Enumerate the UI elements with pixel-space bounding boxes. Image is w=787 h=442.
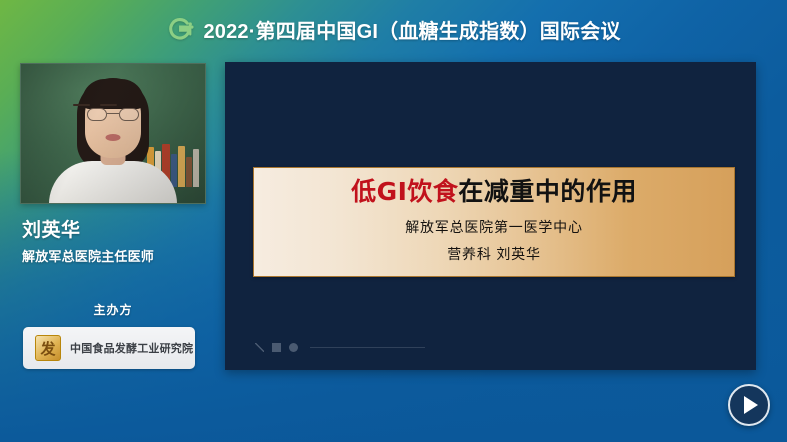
dot-icon[interactable] <box>289 343 298 352</box>
toolbar-divider <box>310 347 425 348</box>
slide-title-rest: 在减重中的作用 <box>458 177 637 206</box>
slide-viewer[interactable]: 低GI饮食在减重中的作用 解放军总医院第一医学中心 营养科 刘英华 <box>225 62 756 370</box>
slide-subtitle-line-1: 解放军总医院第一医学中心 <box>405 217 583 237</box>
organizer-label: 主办方 <box>20 301 206 318</box>
play-button[interactable] <box>728 384 770 426</box>
slide-title-band: 低GI饮食在减重中的作用 解放军总医院第一医学中心 营养科 刘英华 <box>253 167 735 277</box>
slide-title-highlight: 低GI饮食 <box>351 177 458 206</box>
gi-logo-icon <box>166 15 194 43</box>
square-icon[interactable] <box>272 343 281 352</box>
speaker-title: 解放军总医院主任医师 <box>20 246 206 265</box>
speaker-webcam[interactable] <box>20 63 206 204</box>
header-bar: 2022·第四届中国GI（血糖生成指数）国际会议 <box>0 0 787 58</box>
pen-icon[interactable] <box>255 343 264 352</box>
slide-title: 低GI饮食在减重中的作用 <box>351 178 637 207</box>
slide-annotation-toolbar[interactable] <box>255 343 425 352</box>
page-title: 2022·第四届中国GI（血糖生成指数）国际会议 <box>203 15 620 44</box>
slide-subtitle-line-2: 营养科 刘英华 <box>447 244 541 264</box>
organizer-card[interactable]: 发 中国食品发酵工业研究院 <box>23 327 195 369</box>
slide-content: 低GI饮食在减重中的作用 解放军总医院第一医学中心 营养科 刘英华 <box>225 62 756 370</box>
play-icon <box>744 396 758 414</box>
organizer-name: 中国食品发酵工业研究院 <box>70 340 193 356</box>
speaker-name: 刘英华 <box>20 215 206 242</box>
organizer-emblem-icon: 发 <box>35 335 61 361</box>
speaker-panel: 刘英华 解放军总医院主任医师 主办方 发 中国食品发酵工业研究院 <box>20 63 206 369</box>
webinar-stage: 2022·第四届中国GI（血糖生成指数）国际会议 <box>0 0 787 442</box>
webcam-vignette <box>21 64 205 203</box>
